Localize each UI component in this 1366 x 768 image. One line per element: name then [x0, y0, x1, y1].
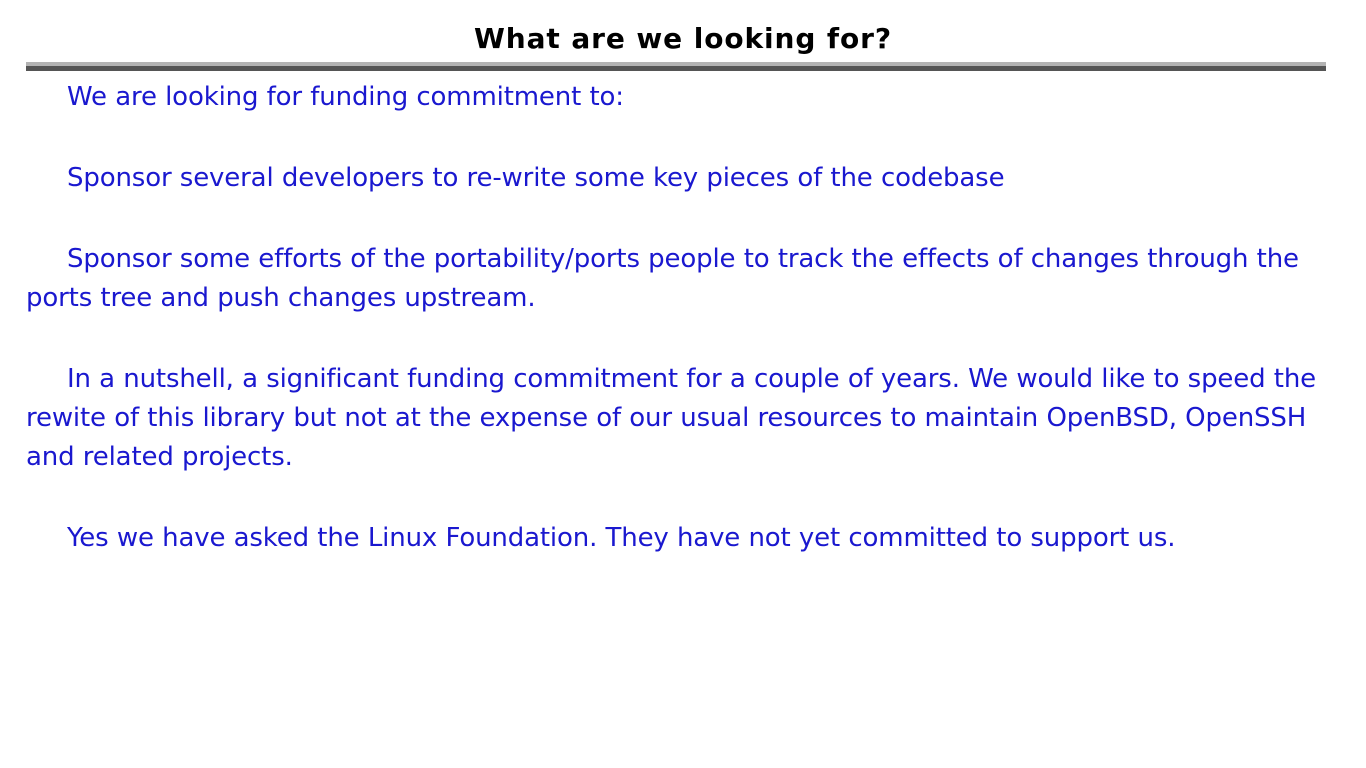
slide-body: We are looking for funding commitment to… — [26, 78, 1336, 738]
body-paragraph-nutshell: In a nutshell, a significant funding com… — [26, 360, 1336, 477]
body-paragraph-sponsor-portability: Sponsor some efforts of the portability/… — [26, 240, 1336, 318]
page-title: What are we looking for? — [0, 22, 1366, 56]
title-divider-dark-band — [26, 66, 1326, 71]
title-divider — [26, 62, 1326, 71]
body-paragraph-sponsor-developers: Sponsor several developers to re-write s… — [26, 159, 1336, 198]
body-paragraph-linux-foundation: Yes we have asked the Linux Foundation. … — [26, 519, 1336, 558]
body-paragraph-intro: We are looking for funding commitment to… — [26, 78, 1336, 117]
slide-canvas: What are we looking for? We are looking … — [0, 0, 1366, 768]
